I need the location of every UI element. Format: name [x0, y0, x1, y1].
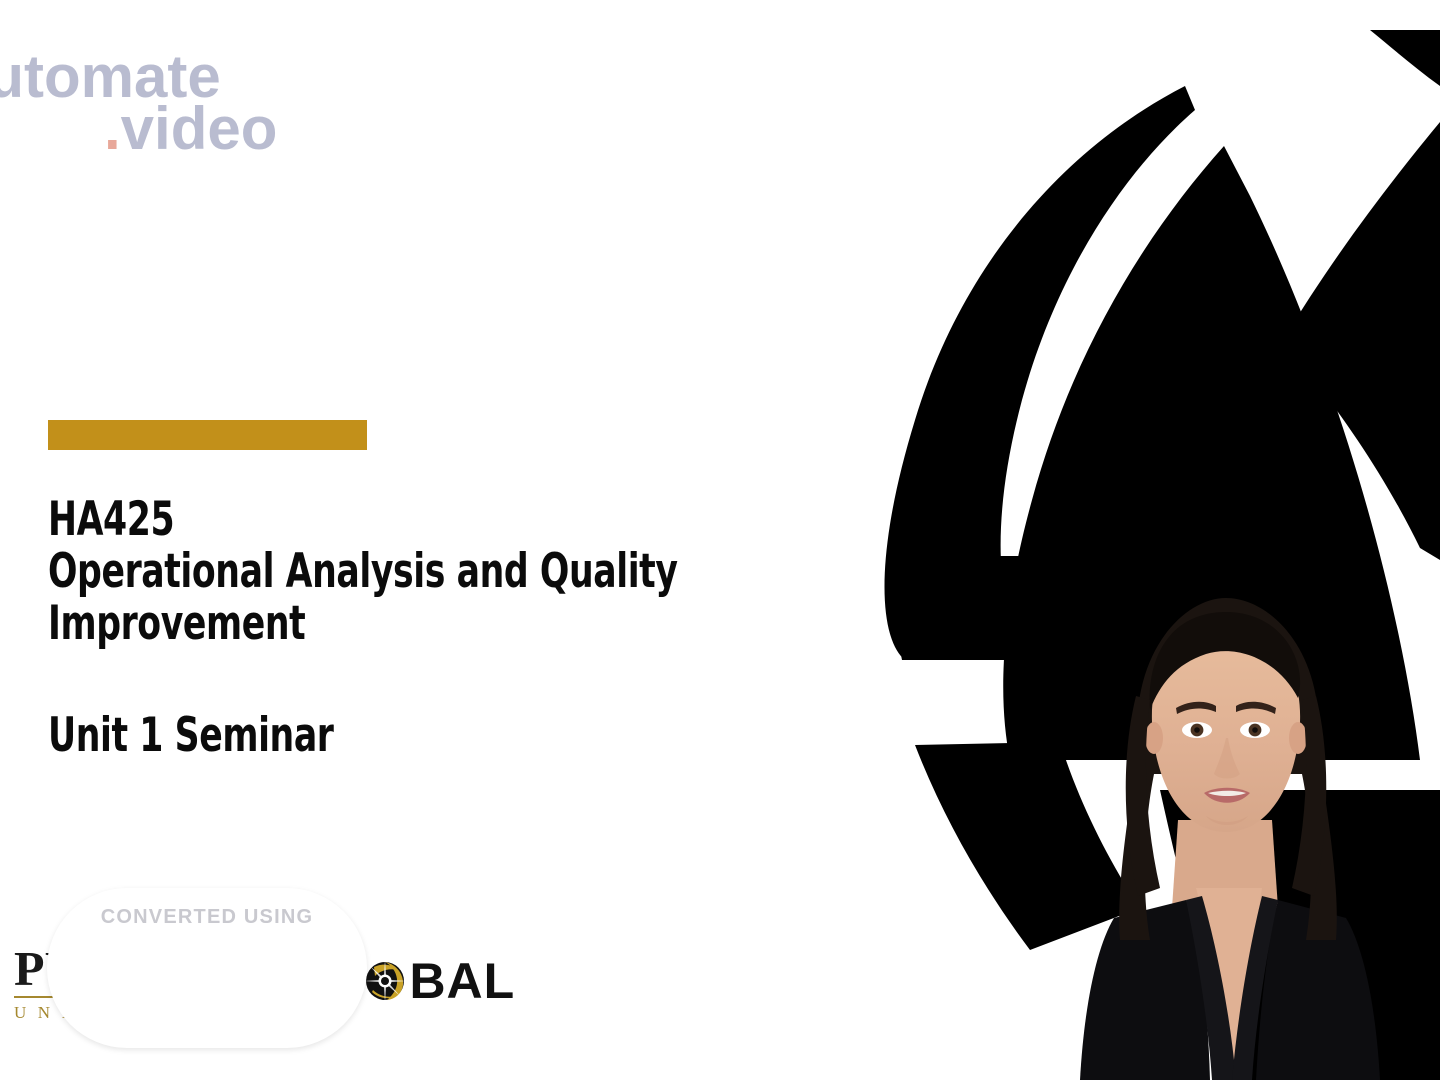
purdue-gold-rule	[14, 996, 269, 998]
global-left-letters: GL	[290, 956, 361, 1006]
purdue-global-logo: PURDUE UNIVERSITY® GL BAL	[14, 948, 515, 1018]
purdue-university-word: UNIVERSITY®	[14, 1003, 276, 1023]
purdue-university-text: UNIVERSITY	[14, 1003, 231, 1022]
global-wordmark: GL BAL	[290, 956, 515, 1006]
video-presenter	[1010, 588, 1440, 1080]
title-block: HA425 Operational Analysis and Quality I…	[48, 420, 748, 762]
globe-icon	[362, 958, 408, 1004]
accent-bar	[48, 420, 367, 450]
seminar-title-slide: HA425 Operational Analysis and Quality I…	[0, 0, 1440, 1080]
watermark-dot: .	[104, 95, 121, 162]
purdue-word: PURDUE	[14, 944, 281, 994]
course-code: HA425	[48, 494, 622, 546]
global-right-letters: BAL	[409, 956, 515, 1006]
purdue-university-wordmark: PURDUE UNIVERSITY®	[14, 944, 276, 1023]
unit-subtitle: Unit 1 Seminar	[48, 710, 622, 762]
registered-trademark-icon: ®	[231, 1004, 237, 1013]
course-title-line-2: Improvement	[48, 598, 622, 650]
course-title-line-1: Operational Analysis and Quality	[48, 546, 622, 598]
watermark-label: CONVERTED USING	[47, 906, 367, 929]
watermark-brand-video: .video	[104, 100, 277, 158]
watermark-brand-suffix: video	[121, 95, 278, 162]
